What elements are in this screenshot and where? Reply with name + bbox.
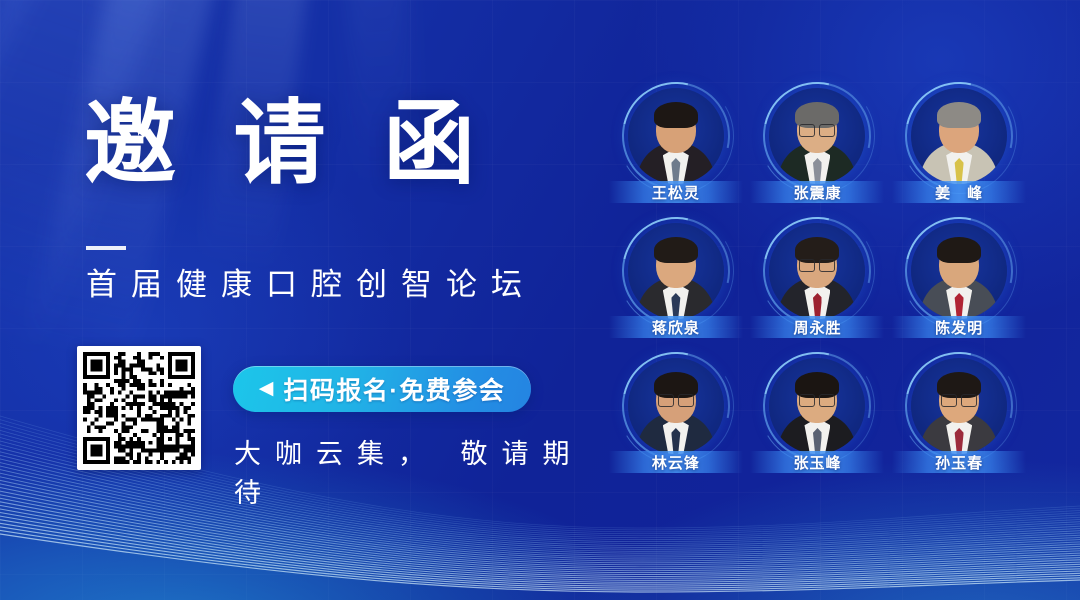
speaker-name: 孙玉春 [935,452,983,473]
speaker-avatar [911,88,1007,184]
speaker-name-plate: 张玉峰 [750,451,884,473]
speaker-name-plate: 张震康 [750,181,884,203]
invitation-poster: 邀 请 函 首届健康口腔创智论坛 ◀ 扫码报名·免费参会 大咖云集， 敬请期待 … [0,0,1080,600]
event-subtitle: 首届健康口腔创智论坛 [86,266,536,305]
speaker-avatar [628,88,724,184]
speaker-name-plate: 孙玉春 [892,451,1026,473]
speaker-name-plate: 王松灵 [609,181,743,203]
title-divider [86,246,126,250]
glasses-icon [658,394,694,405]
speaker-card[interactable]: 蒋欣泉 [609,223,743,338]
page-title: 邀 请 函 [84,98,491,190]
speaker-name: 张震康 [793,182,841,203]
glasses-icon [941,394,977,405]
glasses-icon [799,124,835,135]
speaker-avatar [911,358,1007,454]
speaker-card[interactable]: 姜 峰 [892,88,1026,203]
speaker-name: 张玉峰 [793,452,841,473]
speaker-name-plate: 陈发明 [892,316,1026,338]
speaker-name: 林云锋 [652,452,700,473]
speaker-card[interactable]: 周永胜 [750,223,884,338]
qr-code-canvas [83,352,195,464]
left-arrow-icon: ◀ [259,379,274,398]
speaker-name-plate: 林云锋 [609,451,743,473]
speaker-card[interactable]: 林云锋 [609,358,743,473]
speaker-name: 陈发明 [935,317,983,338]
tagline: 大咖云集， 敬请期待 [234,432,600,510]
speaker-card[interactable]: 张震康 [750,88,884,203]
speaker-avatar [628,223,724,319]
qr-code[interactable] [77,346,201,470]
speaker-avatar [769,223,865,319]
speaker-name: 蒋欣泉 [652,317,700,338]
speaker-name: 周永胜 [793,317,841,338]
register-button-label: 扫码报名·免费参会 [283,371,505,407]
speaker-card[interactable]: 陈发明 [892,223,1026,338]
speaker-avatar [911,223,1007,319]
speaker-name-plate: 姜 峰 [892,181,1026,203]
register-button[interactable]: ◀ 扫码报名·免费参会 [233,366,531,412]
glasses-icon [799,259,835,270]
speaker-name: 姜 峰 [935,182,983,203]
speaker-name-plate: 蒋欣泉 [609,316,743,338]
speaker-grid: 王松灵张震康姜 峰蒋欣泉周永胜陈发明林云锋张玉峰孙玉春 [605,88,1030,473]
speaker-card[interactable]: 张玉峰 [750,358,884,473]
speaker-name-plate: 周永胜 [750,316,884,338]
speaker-avatar [769,358,865,454]
speaker-card[interactable]: 王松灵 [609,88,743,203]
speaker-card[interactable]: 孙玉春 [892,358,1026,473]
speaker-avatar [769,88,865,184]
glasses-icon [799,394,835,405]
left-content-column: 邀 请 函 首届健康口腔创智论坛 ◀ 扫码报名·免费参会 大咖云集， 敬请期待 [0,0,600,600]
speaker-name: 王松灵 [652,182,700,203]
speaker-avatar [628,358,724,454]
